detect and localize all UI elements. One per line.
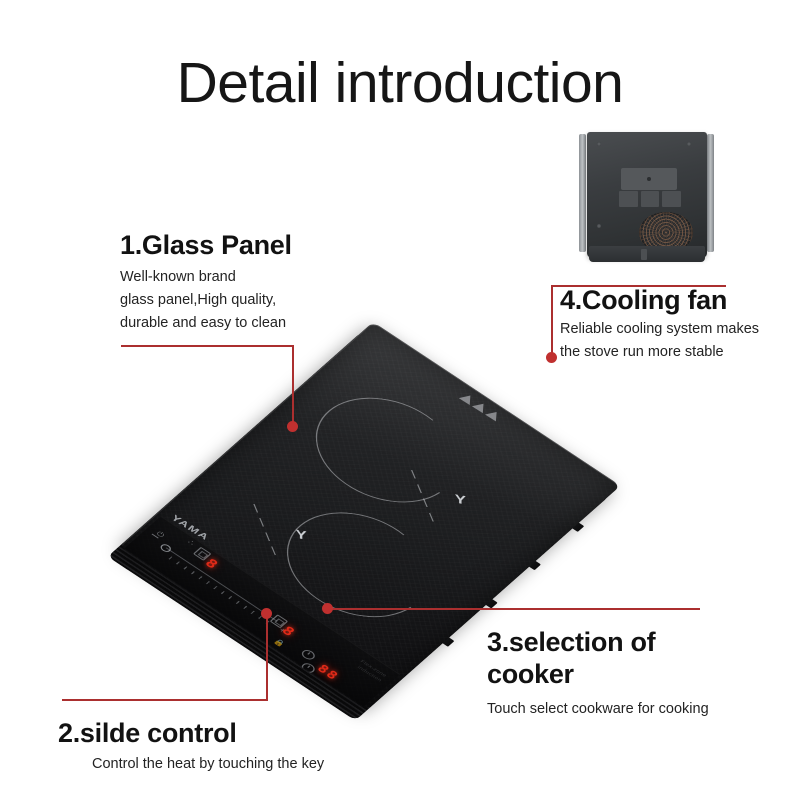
callout-4-body: Reliable cooling system makes the stove … <box>560 318 800 364</box>
leader-line-1-horizontal <box>121 345 294 347</box>
infographic-canvas: Detail introduction <box>0 0 800 800</box>
screw-icon <box>687 142 691 146</box>
page-title: Detail introduction <box>0 52 800 115</box>
wifi-dots-icon[interactable]: ∴ <box>186 539 196 547</box>
leader-dot-4 <box>546 352 557 363</box>
callout-3-body: Touch select cookware for cooking <box>487 698 787 721</box>
callout-2-body: Control the heat by touching the key <box>92 753 388 776</box>
callout-2-heading: 2.silde control <box>58 718 388 750</box>
callout-cooling-fan: 4.Cooling fan Reliable cooling system ma… <box>560 285 800 364</box>
fan-inset-chassis <box>587 132 707 258</box>
screw-icon <box>597 142 601 146</box>
cooking-zone-outline-top <box>311 389 462 510</box>
leader-dot-2 <box>261 608 272 619</box>
zone-marker-icon: Y <box>296 527 307 543</box>
leader-dot-1 <box>287 421 298 432</box>
callout-1-body: Well-known brand glass panel,High qualit… <box>120 266 390 335</box>
fan-inset-plate <box>621 168 677 190</box>
callout-glass-panel: 1.Glass Panel Well-known brand glass pan… <box>120 230 390 335</box>
chevron-logo-icon <box>459 392 502 421</box>
cooling-fan-inset-image <box>571 128 723 268</box>
leader-line-3-horizontal <box>327 608 700 610</box>
callout-slide-control: 2.silde control Control the heat by touc… <box>58 718 388 776</box>
timer-icon[interactable] <box>299 648 317 661</box>
cooking-zone-divider-bottom <box>253 504 279 561</box>
leader-line-2-vertical <box>266 613 268 701</box>
leader-dot-3 <box>322 603 333 614</box>
leader-line-4-vertical <box>551 285 553 358</box>
lock-icon[interactable]: 🔒 <box>272 638 286 649</box>
screw-icon <box>597 224 601 228</box>
leader-line-2-horizontal <box>62 699 268 701</box>
callout-3-heading: 3.selection of cooker <box>487 627 787 691</box>
fan-inset-vent-slots <box>619 191 681 207</box>
leader-line-1-vertical <box>292 345 294 427</box>
fan-inset-base <box>589 246 705 262</box>
callout-1-heading: 1.Glass Panel <box>120 230 390 262</box>
fan-inset-rail-left <box>579 134 586 252</box>
zone-marker-icon: Y <box>455 491 466 507</box>
fan-inset-rail-right <box>707 134 714 252</box>
callout-selection-of-cooker: 3.selection of cooker Touch select cookw… <box>487 627 787 721</box>
callout-4-heading: 4.Cooling fan <box>560 285 800 317</box>
